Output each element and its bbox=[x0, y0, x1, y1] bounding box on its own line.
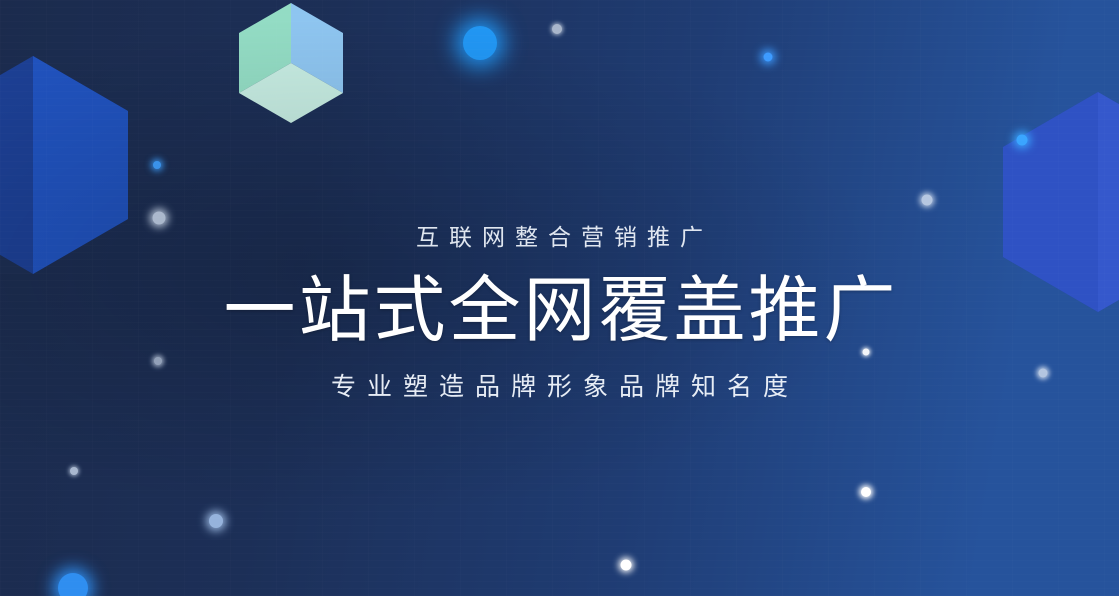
particle-dot bbox=[552, 24, 562, 34]
particle-dot bbox=[153, 161, 161, 169]
particle-dot bbox=[463, 26, 497, 60]
particle-dot bbox=[922, 195, 933, 206]
particle-dot bbox=[209, 514, 223, 528]
particle-dot bbox=[621, 560, 632, 571]
cube-logo bbox=[239, 3, 343, 123]
particle-dot bbox=[70, 467, 78, 475]
particle-dot bbox=[1017, 135, 1028, 146]
particle-dot bbox=[58, 573, 88, 596]
particle-dot bbox=[861, 487, 871, 497]
particle-dot bbox=[764, 53, 773, 62]
hero-eyebrow: 互联网整合营销推广 bbox=[0, 222, 1119, 252]
hero-headline: 一站式全网覆盖推广 bbox=[0, 268, 1119, 354]
hero-subline: 专业塑造品牌形象品牌知名度 bbox=[0, 370, 1119, 404]
hero-copy: 互联网整合营销推广 一站式全网覆盖推广 专业塑造品牌形象品牌知名度 bbox=[0, 222, 1119, 404]
hero-banner: 互联网整合营销推广 一站式全网覆盖推广 专业塑造品牌形象品牌知名度 bbox=[0, 0, 1119, 596]
